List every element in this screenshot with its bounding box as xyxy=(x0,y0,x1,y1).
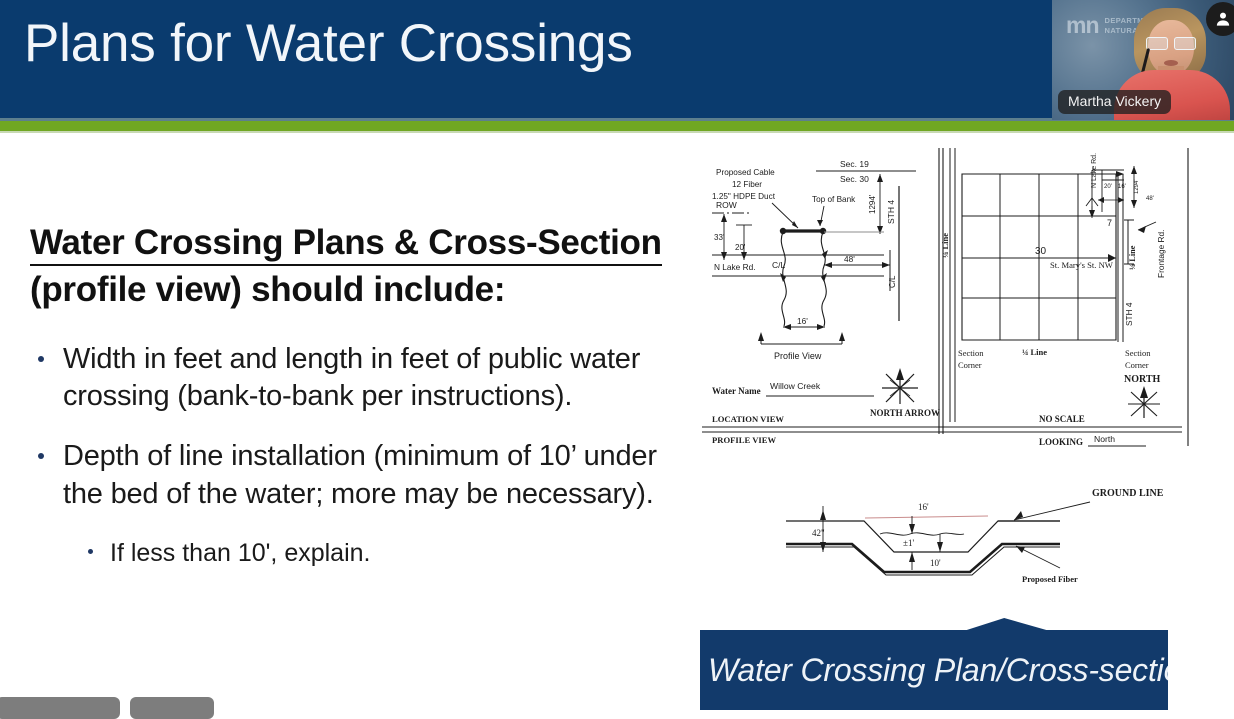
toolbar-control-right[interactable] xyxy=(130,697,214,719)
label-quarter-line-right: ¼ Line xyxy=(1128,245,1137,270)
label-dim-48: 48' xyxy=(844,254,855,264)
list-item: If less than 10', explain. xyxy=(82,537,670,570)
label-dim-42in: 42" xyxy=(812,528,825,538)
label-proposed-fiber: Proposed Fiber xyxy=(1022,574,1078,584)
label-sec-7: 7 xyxy=(1107,218,1112,228)
label-inset-dim-1294: 1294' xyxy=(1134,180,1140,195)
avatar-glasses xyxy=(1146,37,1196,48)
label-dim-20: 20' xyxy=(735,243,746,252)
value-water-name: Willow Creek xyxy=(770,381,821,391)
body-heading-line1: Water Crossing Plans & Cross-Section xyxy=(30,222,662,266)
label-location-view: LOCATION VIEW xyxy=(712,414,784,424)
header-accent-shadow xyxy=(0,131,1234,133)
label-section-corner-right-2: Corner xyxy=(1125,360,1149,370)
label-inset-dim-16: 16' xyxy=(1118,184,1126,190)
label-no-scale: NO SCALE xyxy=(1039,414,1085,424)
label-quarter-line-left: ¼ Line xyxy=(940,233,950,258)
list-item: Width in feet and length in feet of publ… xyxy=(30,341,670,416)
label-north-arrow: NORTH ARROW xyxy=(870,408,940,418)
page-title: Plans for Water Crossings xyxy=(24,16,633,72)
label-profile-view-caption: Profile View xyxy=(774,351,822,361)
toolbar-control-left[interactable] xyxy=(0,697,120,719)
value-looking-direction: North xyxy=(1094,434,1115,444)
label-fiber-count: 12 Fiber xyxy=(732,180,762,189)
label-proposed-cable: Proposed Cable xyxy=(716,168,775,177)
label-sec-30: Sec. 30 xyxy=(840,174,869,184)
label-sth-4-left: STH 4 xyxy=(886,200,896,224)
label-inset-dim-48: 48' xyxy=(1146,196,1154,202)
label-st-marys: St. Mary's St. NW xyxy=(1050,260,1114,270)
label-cl-right: C/L xyxy=(888,275,897,288)
bullet-list: Width in feet and length in feet of publ… xyxy=(30,341,670,514)
label-quarter-line-bottom: ¼ Line xyxy=(1022,347,1047,357)
label-dim-1ft: ±1' xyxy=(903,538,914,548)
water-crossing-plan-drawing: Proposed Cable 12 Fiber 1.25" HDPE Duct … xyxy=(694,146,1190,448)
label-sec-19: Sec. 19 xyxy=(840,159,869,169)
label-row: ROW xyxy=(716,200,737,210)
label-section-corner-left-2: Corner xyxy=(958,360,982,370)
presentation-slide: Plans for Water Crossings Water Crossing… xyxy=(0,0,1234,710)
figure-caption-banner: Water Crossing Plan/Cross-section xyxy=(700,618,1168,710)
water-crossing-cross-section-drawing: GROUND LINE 42" Proposed Fiber 16' ±1' 1… xyxy=(760,472,1190,592)
label-sth-4-right: STH 4 xyxy=(1124,302,1134,326)
label-section-corner-right-1: Section xyxy=(1125,348,1151,358)
video-participant-tile[interactable]: mn DEPARTMENT OF NATURAL RESOURCES Marth… xyxy=(1052,0,1234,120)
label-dim-10ft: 10' xyxy=(930,558,941,568)
label-looking: LOOKING xyxy=(1039,437,1083,447)
label-dim-33: 33' xyxy=(714,233,725,242)
label-dim-16ft: 16' xyxy=(918,502,929,512)
slide-body-text: Water Crossing Plans & Cross-Section (pr… xyxy=(30,222,670,570)
figure-caption-text: Water Crossing Plan/Cross-section xyxy=(708,652,1160,689)
label-water-name: Water Name xyxy=(712,386,761,396)
person-icon[interactable] xyxy=(1206,2,1234,36)
label-section-corner-left-1: Section xyxy=(958,348,984,358)
dnr-logo-mark: mn xyxy=(1066,14,1099,37)
label-n-lake-rd: N Lake Rd. xyxy=(714,262,756,272)
label-profile-view: PROFILE VIEW xyxy=(712,435,776,445)
label-dim-1294: 1294' xyxy=(868,194,877,214)
label-north: NORTH xyxy=(1124,374,1161,385)
list-item: Depth of line installation (minimum of 1… xyxy=(30,438,670,513)
label-inset-dim-20: 20' xyxy=(1104,184,1112,190)
body-heading: Water Crossing Plans & Cross-Section (pr… xyxy=(30,222,670,311)
label-section-30: 30 xyxy=(1035,246,1047,257)
label-ground-line: GROUND LINE xyxy=(1092,488,1164,499)
label-dim-16: 16' xyxy=(797,316,808,326)
label-frontage-rd: Frontage Rd. xyxy=(1156,230,1166,278)
header-accent-bar xyxy=(0,121,1234,131)
participant-name-label: Martha Vickery xyxy=(1058,90,1171,115)
sub-bullet-list: If less than 10', explain. xyxy=(30,537,670,570)
body-heading-line2: (profile view) should include: xyxy=(30,269,670,310)
label-top-of-bank: Top of Bank xyxy=(812,195,856,204)
